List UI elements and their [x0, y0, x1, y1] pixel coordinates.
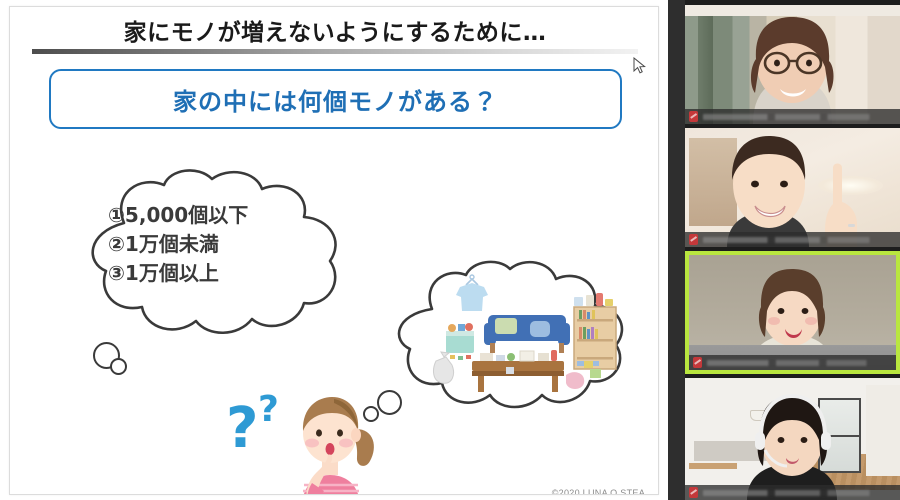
video-tile-2[interactable]: [685, 128, 900, 247]
question-box: 家の中には何個モノがある？: [49, 69, 622, 129]
answer-option-2: ②1万個未満: [108, 230, 338, 259]
title-underline-rule: [32, 49, 638, 54]
thought-dot-small: [110, 358, 127, 375]
tile-2-participant-name: [703, 237, 892, 243]
svg-text:?: ?: [258, 389, 279, 430]
thinking-woman-illustration: [278, 389, 383, 495]
tile-2-participant-video: [685, 128, 900, 247]
tile-3-participant-name: [707, 360, 888, 366]
tile-1-participant-name: [703, 114, 892, 120]
video-tile-3-active-speaker[interactable]: [685, 251, 900, 374]
room-thought-cloud: [388, 257, 636, 417]
tile-4-participant-name: [703, 490, 892, 496]
tile-1-name-bar: [685, 109, 900, 124]
answer-option-3: ③1万個以上: [108, 259, 338, 288]
tile-4-participant-video: [685, 378, 900, 500]
slide-title: 家にモノが増えないようにするために…: [10, 13, 659, 47]
muted-microphone-icon: [689, 234, 698, 245]
video-tile-4[interactable]: [685, 378, 900, 500]
tile-2-name-bar: [685, 232, 900, 247]
muted-microphone-icon: [689, 487, 698, 498]
question-text: 家の中には何個モノがある？: [173, 82, 498, 117]
screen-share-window: 家にモノが増えないようにするために… 家の中には何個モノがある？ ①5,000個…: [0, 0, 900, 500]
answer-list: ①5,000個以下 ②1万個未満 ③1万個以上: [108, 201, 338, 288]
copyright-notice: ©2020 LUNA O STEA: [490, 488, 645, 495]
tile-3-name-bar: [689, 355, 896, 370]
shared-slide-area[interactable]: 家にモノが増えないようにするために… 家の中には何個モノがある？ ①5,000個…: [0, 0, 668, 500]
tile-4-name-bar: [685, 485, 900, 500]
slide-frame: 家にモノが増えないようにするために… 家の中には何個モノがある？ ①5,000個…: [9, 6, 659, 495]
muted-microphone-icon: [693, 357, 702, 368]
mouse-pointer-arrow-icon: [633, 57, 647, 75]
video-tile-1[interactable]: [685, 5, 900, 124]
tile-1-participant-video: [685, 5, 900, 124]
video-participant-strip[interactable]: [685, 0, 900, 500]
room-cloud-shape: [388, 257, 636, 417]
muted-microphone-icon: [689, 111, 698, 122]
panel-divider: [668, 0, 685, 500]
answer-thought-cloud: ①5,000個以下 ②1万個未満 ③1万個以上: [72, 165, 362, 345]
svg-text:?: ?: [226, 396, 258, 461]
answer-option-1: ①5,000個以下: [108, 201, 338, 230]
